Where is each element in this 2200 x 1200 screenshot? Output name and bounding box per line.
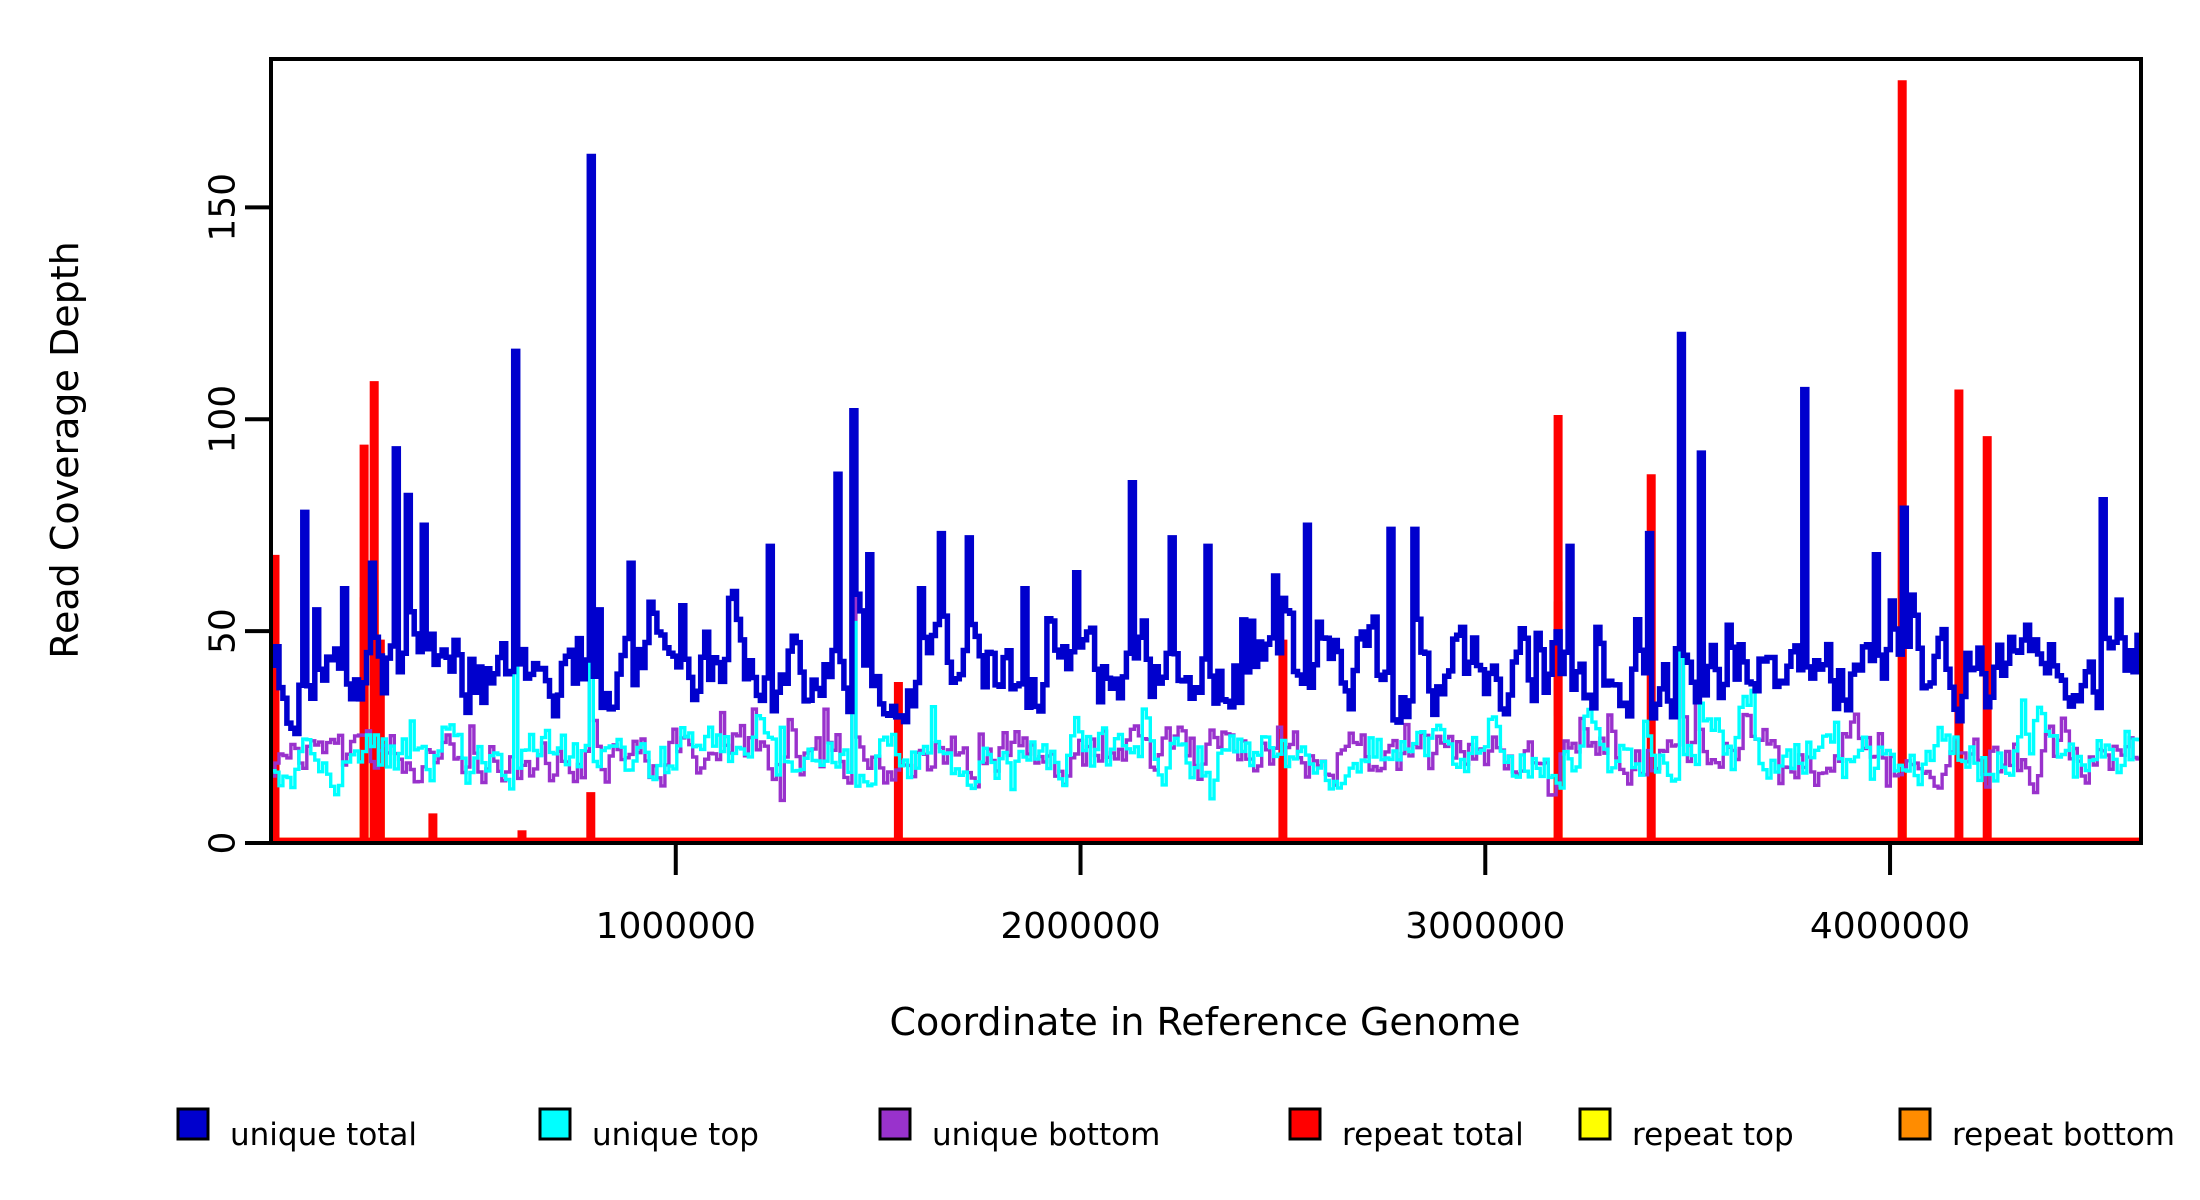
x-tick-label: 2000000 <box>1000 906 1160 947</box>
y-tick-label: 100 <box>203 385 244 454</box>
legend-swatch-icon <box>178 1109 208 1139</box>
y-tick-label: 150 <box>203 173 244 242</box>
legend-label: repeat top <box>1632 1117 1794 1153</box>
y-tick-label: 50 <box>203 608 244 654</box>
x-tick-label: 3000000 <box>1405 906 1565 947</box>
x-tick-label: 1000000 <box>596 906 756 947</box>
legend-swatch-icon <box>540 1109 570 1139</box>
legend-label: repeat bottom <box>1952 1117 2175 1153</box>
chart-container: 0501001501000000200000030000004000000 Re… <box>0 0 2200 1200</box>
legend-label: repeat total <box>1342 1117 1524 1153</box>
legend-swatch-icon <box>1900 1109 1930 1139</box>
y-tick-label: 0 <box>203 832 244 855</box>
x-axis-title: Coordinate in Reference Genome <box>889 1000 1520 1044</box>
legend-swatch-icon <box>1580 1109 1610 1139</box>
coverage-depth-plot: 0501001501000000200000030000004000000 Re… <box>0 0 2200 1200</box>
legend-label: unique total <box>230 1117 417 1153</box>
legend-label: unique bottom <box>932 1117 1160 1153</box>
legend-label: unique top <box>592 1117 759 1153</box>
y-axis-title: Read Coverage Depth <box>43 241 87 658</box>
legend-swatch-icon <box>880 1109 910 1139</box>
legend-swatch-icon <box>1290 1109 1320 1139</box>
x-tick-label: 4000000 <box>1810 906 1970 947</box>
